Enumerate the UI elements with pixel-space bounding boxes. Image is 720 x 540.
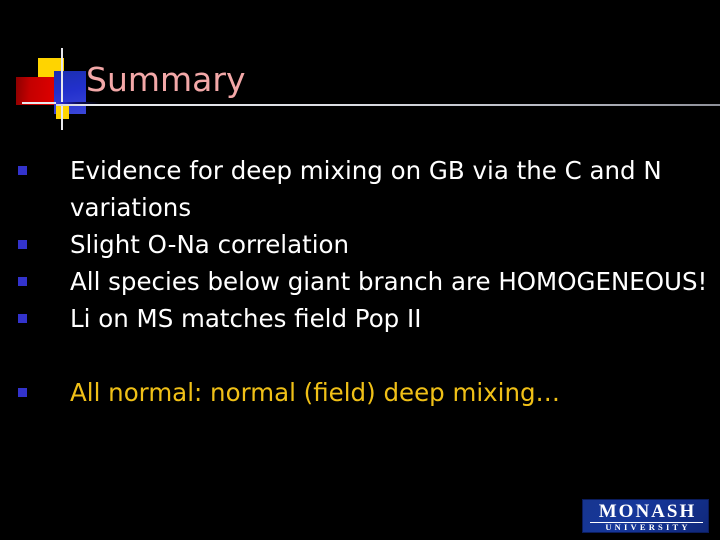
bullet-square-icon [18, 240, 27, 249]
slide-canvas: Summary Evidence for deep mixing on GB v… [0, 0, 720, 540]
bullet-spacer [0, 337, 720, 374]
list-item-label: All species below giant branch are HOMOG… [70, 263, 720, 300]
bullet-list: Evidence for deep mixing on GB via the C… [0, 152, 720, 411]
list-item[interactable]: Evidence for deep mixing on GB via the C… [0, 152, 720, 226]
title-separator-rule [56, 104, 720, 106]
bullet-square-icon [18, 314, 27, 323]
list-item-label: Evidence for deep mixing on GB via the C… [70, 152, 720, 226]
decoration-vertical-line [61, 48, 63, 130]
list-item[interactable]: All normal: normal (field) deep mixing… [0, 374, 720, 411]
list-item-label: All normal: normal (field) deep mixing… [70, 374, 720, 411]
list-item[interactable]: Li on MS matches field Pop II [0, 300, 720, 337]
bullet-square-icon [18, 277, 27, 286]
monash-logo-subtitle: UNIVERSITY [583, 522, 709, 533]
monash-logo: MONASH UNIVERSITY [582, 499, 709, 533]
decoration-red-square [16, 77, 56, 105]
page-title: Summary [86, 60, 245, 100]
bullet-square-icon [18, 166, 27, 175]
list-item[interactable]: Slight O-Na correlation [0, 226, 720, 263]
bullet-square-icon [18, 388, 27, 397]
list-item-label: Li on MS matches field Pop II [70, 300, 720, 337]
list-item[interactable]: All species below giant branch are HOMOG… [0, 263, 720, 300]
list-item-label: Slight O-Na correlation [70, 226, 720, 263]
monash-logo-wordmark: MONASH [583, 502, 709, 522]
